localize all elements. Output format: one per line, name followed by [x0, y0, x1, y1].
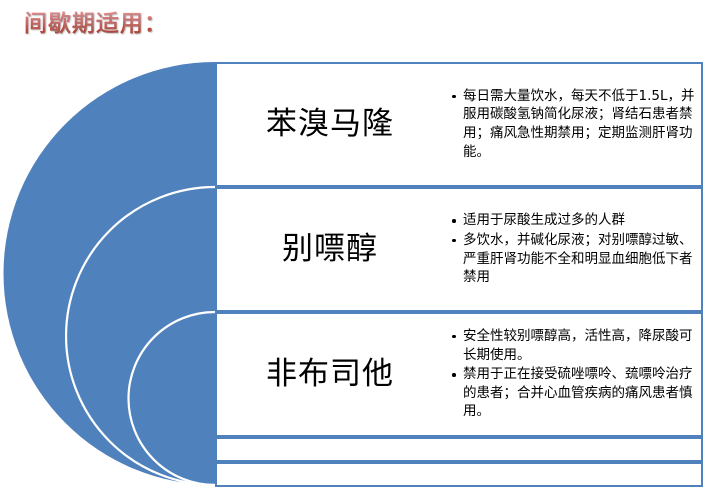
content-row-4-empty[interactable] — [215, 437, 703, 462]
row-2-drug-name: 别嘌醇 — [217, 232, 447, 266]
list-item: 禁用于正在接受硫唑嘌呤、巯嘌呤治疗的患者；合并心血管疾病的痛风患者慎用。 — [463, 365, 695, 421]
row-1-details: 每日需大量饮水，每天不低于1.5L，并服用碳酸氢钠简化尿液；肾结石患者禁用；痛风… — [447, 85, 701, 165]
content-row-5-empty[interactable] — [215, 462, 703, 487]
row-1-drug-name: 苯溴马隆 — [217, 107, 447, 141]
arc-outer-shape — [4, 62, 215, 485]
list-item: 适用于尿酸生成过多的人群 — [463, 211, 695, 230]
smartart-graphic: 苯溴马隆 每日需大量饮水，每天不低于1.5L，并服用碳酸氢钠简化尿液；肾结石患者… — [0, 0, 713, 494]
content-row-1[interactable]: 苯溴马隆 每日需大量饮水，每天不低于1.5L，并服用碳酸氢钠简化尿液；肾结石患者… — [215, 62, 703, 187]
content-row-3[interactable]: 非布司他 安全性较别嘌醇高，活性高，降尿酸可长期使用。 禁用于正在接受硫唑嘌呤、… — [215, 312, 703, 437]
row-1-bullet-list: 每日需大量饮水，每天不低于1.5L，并服用碳酸氢钠简化尿液；肾结石患者禁用；痛风… — [447, 87, 695, 162]
row-3-details: 安全性较别嘌醇高，活性高，降尿酸可长期使用。 禁用于正在接受硫唑嘌呤、巯嘌呤治疗… — [447, 325, 701, 424]
row-2-details: 适用于尿酸生成过多的人群 多饮水，并碱化尿液；对别嘌醇过敏、严重肝肾功能不全和明… — [447, 209, 701, 290]
list-item: 安全性较别嘌醇高，活性高，降尿酸可长期使用。 — [463, 327, 695, 364]
content-row-2[interactable]: 别嘌醇 适用于尿酸生成过多的人群 多饮水，并碱化尿液；对别嘌醇过敏、严重肝肾功能… — [215, 187, 703, 312]
list-item: 多饮水，并碱化尿液；对别嘌醇过敏、严重肝肾功能不全和明显血细胞低下者禁用 — [463, 231, 695, 287]
row-2-bullet-list: 适用于尿酸生成过多的人群 多饮水，并碱化尿液；对别嘌醇过敏、严重肝肾功能不全和明… — [447, 211, 695, 287]
row-3-drug-name: 非布司他 — [217, 357, 447, 391]
row-3-bullet-list: 安全性较别嘌醇高，活性高，降尿酸可长期使用。 禁用于正在接受硫唑嘌呤、巯嘌呤治疗… — [447, 327, 695, 421]
list-item: 每日需大量饮水，每天不低于1.5L，并服用碳酸氢钠简化尿液；肾结石患者禁用；痛风… — [463, 87, 695, 162]
